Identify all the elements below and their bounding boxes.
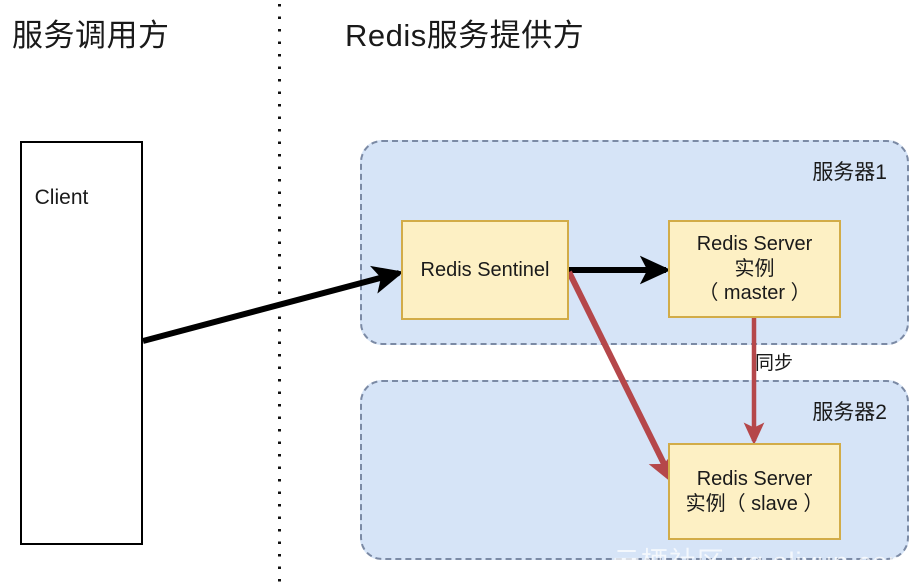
diagram-canvas: 服务调用方 Redis服务提供方 Client 服务器1 服务器2 [0,0,922,584]
section-title-caller: 服务调用方 [12,20,170,51]
node-redis-master: Redis Server 实例 （ master ） [668,220,841,318]
node-redis-slave-line-1: Redis Server [697,467,813,491]
node-redis-slave: Redis Server 实例（ slave ） [668,443,841,540]
node-redis-master-line-2: 实例 [735,257,775,281]
node-redis-master-line-3: （ master ） [698,281,810,305]
server-group-2-label: 服务器2 [812,396,887,426]
node-redis-sentinel-line-1: Redis Sentinel [421,258,550,282]
node-redis-sentinel: Redis Sentinel [401,220,569,320]
node-redis-slave-line-2: 实例（ slave ） [686,492,824,516]
client-label: Client [0,186,123,210]
section-title-provider: Redis服务提供方 [345,20,584,51]
server-group-1-label: 服务器1 [812,156,887,186]
sync-edge-label: 同步 [755,348,793,375]
node-redis-master-line-1: Redis Server [697,232,813,256]
watermark: 云栖社区 yq.aliyun.com [613,540,912,579]
